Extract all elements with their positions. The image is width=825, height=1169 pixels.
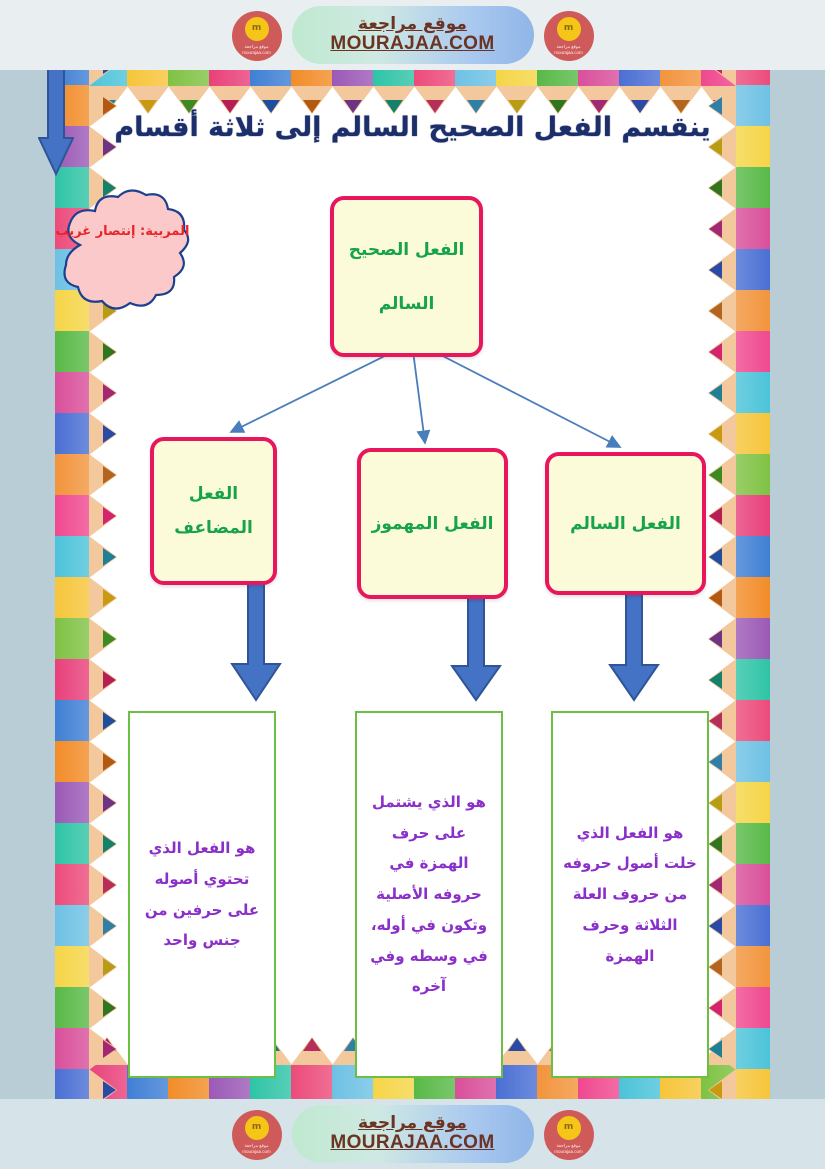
watermark-site-top: MOURAJAA.COM — [330, 34, 494, 54]
down-arrow-icon-salim — [608, 592, 660, 702]
mourajaa-logo-badge-icon-bottom-right: m موقع مراجعة mourajaa.com — [232, 1110, 282, 1160]
mourajaa-logo-badge-icon-top-left: m موقع مراجعة mourajaa.com — [544, 11, 594, 61]
node-root-line-1: الفعل الصحيح — [349, 240, 465, 260]
node-mahmouz-label: الفعل المهموز — [372, 514, 494, 534]
mourajaa-logo-badge-icon-bottom-left: m موقع مراجعة mourajaa.com — [544, 1110, 594, 1160]
badge-caption: موقع مراجعة mourajaa.com — [544, 1143, 594, 1155]
cloud-shape-icon — [55, 185, 195, 325]
watermark-arabic-top: موقع مراجعة — [358, 16, 467, 34]
watermark-pill-top: m موقع مراجعة mourajaa.com موقع مراجعة M… — [292, 6, 534, 64]
badge-disc-icon: m — [245, 1116, 269, 1140]
badge-disc-icon: m — [245, 17, 269, 41]
poster-sheet: ينقسم الفعل الصحيح السالم إلى ثلاثة أقسا… — [55, 0, 770, 1169]
down-arrow-icon-mudaaf — [230, 584, 282, 702]
watermark-site-bottom: MOURAJAA.COM — [330, 1133, 494, 1153]
node-mudaaf-line-1: الفعل — [189, 477, 238, 511]
badge-disc-icon: m — [557, 1116, 581, 1140]
node-salim-label: الفعل السالم — [570, 514, 681, 534]
node-mahmouz: الفعل المهموز — [357, 448, 508, 599]
node-mudaaf: الفعل المضاعف — [150, 437, 277, 585]
node-root: الفعل الصحيح السالم — [330, 196, 483, 357]
description-salim: هو الفعل الذي خلت أصول حروفه من حروف الع… — [551, 711, 709, 1078]
badge-caption: موقع مراجعة mourajaa.com — [544, 44, 594, 56]
watermark-banner-top: m موقع مراجعة mourajaa.com موقع مراجعة M… — [0, 0, 825, 70]
description-mahmouz: هو الذي يشتمل على حرف الهمزة في حروفه ال… — [355, 711, 503, 1078]
watermark-pill-bottom: m موقع مراجعة mourajaa.com موقع مراجعة M… — [292, 1105, 534, 1163]
watermark-banner-bottom: m موقع مراجعة mourajaa.com موقع مراجعة M… — [0, 1099, 825, 1169]
node-root-line-2: السالم — [379, 294, 435, 314]
node-salim: الفعل السالم — [545, 452, 706, 595]
watermark-arabic-bottom: موقع مراجعة — [358, 1115, 467, 1133]
badge-disc-icon: m — [557, 17, 581, 41]
description-mudaaf: هو الفعل الذي تحتوي أصوله على حرفين من ج… — [128, 711, 276, 1078]
badge-caption: موقع مراجعة mourajaa.com — [232, 44, 282, 56]
mourajaa-logo-badge-icon-top-right: m موقع مراجعة mourajaa.com — [232, 11, 282, 61]
down-arrow-icon-mahmouz — [450, 596, 502, 702]
cloud-callout: المربية: إنتصار غريب — [55, 185, 195, 325]
cloud-line-1: المربية: إنتصار — [96, 224, 190, 239]
diagram-layer: الفعل الصحيح السالم الفعل المضاعف الفعل … — [55, 0, 770, 1169]
page-title: ينقسم الفعل الصحيح السالم إلى ثلاثة أقسا… — [55, 112, 770, 143]
cloud-text: المربية: إنتصار غريب — [55, 221, 195, 243]
cloud-line-2: غريب — [56, 224, 92, 239]
node-mudaaf-line-2: المضاعف — [174, 511, 253, 545]
badge-caption: موقع مراجعة mourajaa.com — [232, 1143, 282, 1155]
